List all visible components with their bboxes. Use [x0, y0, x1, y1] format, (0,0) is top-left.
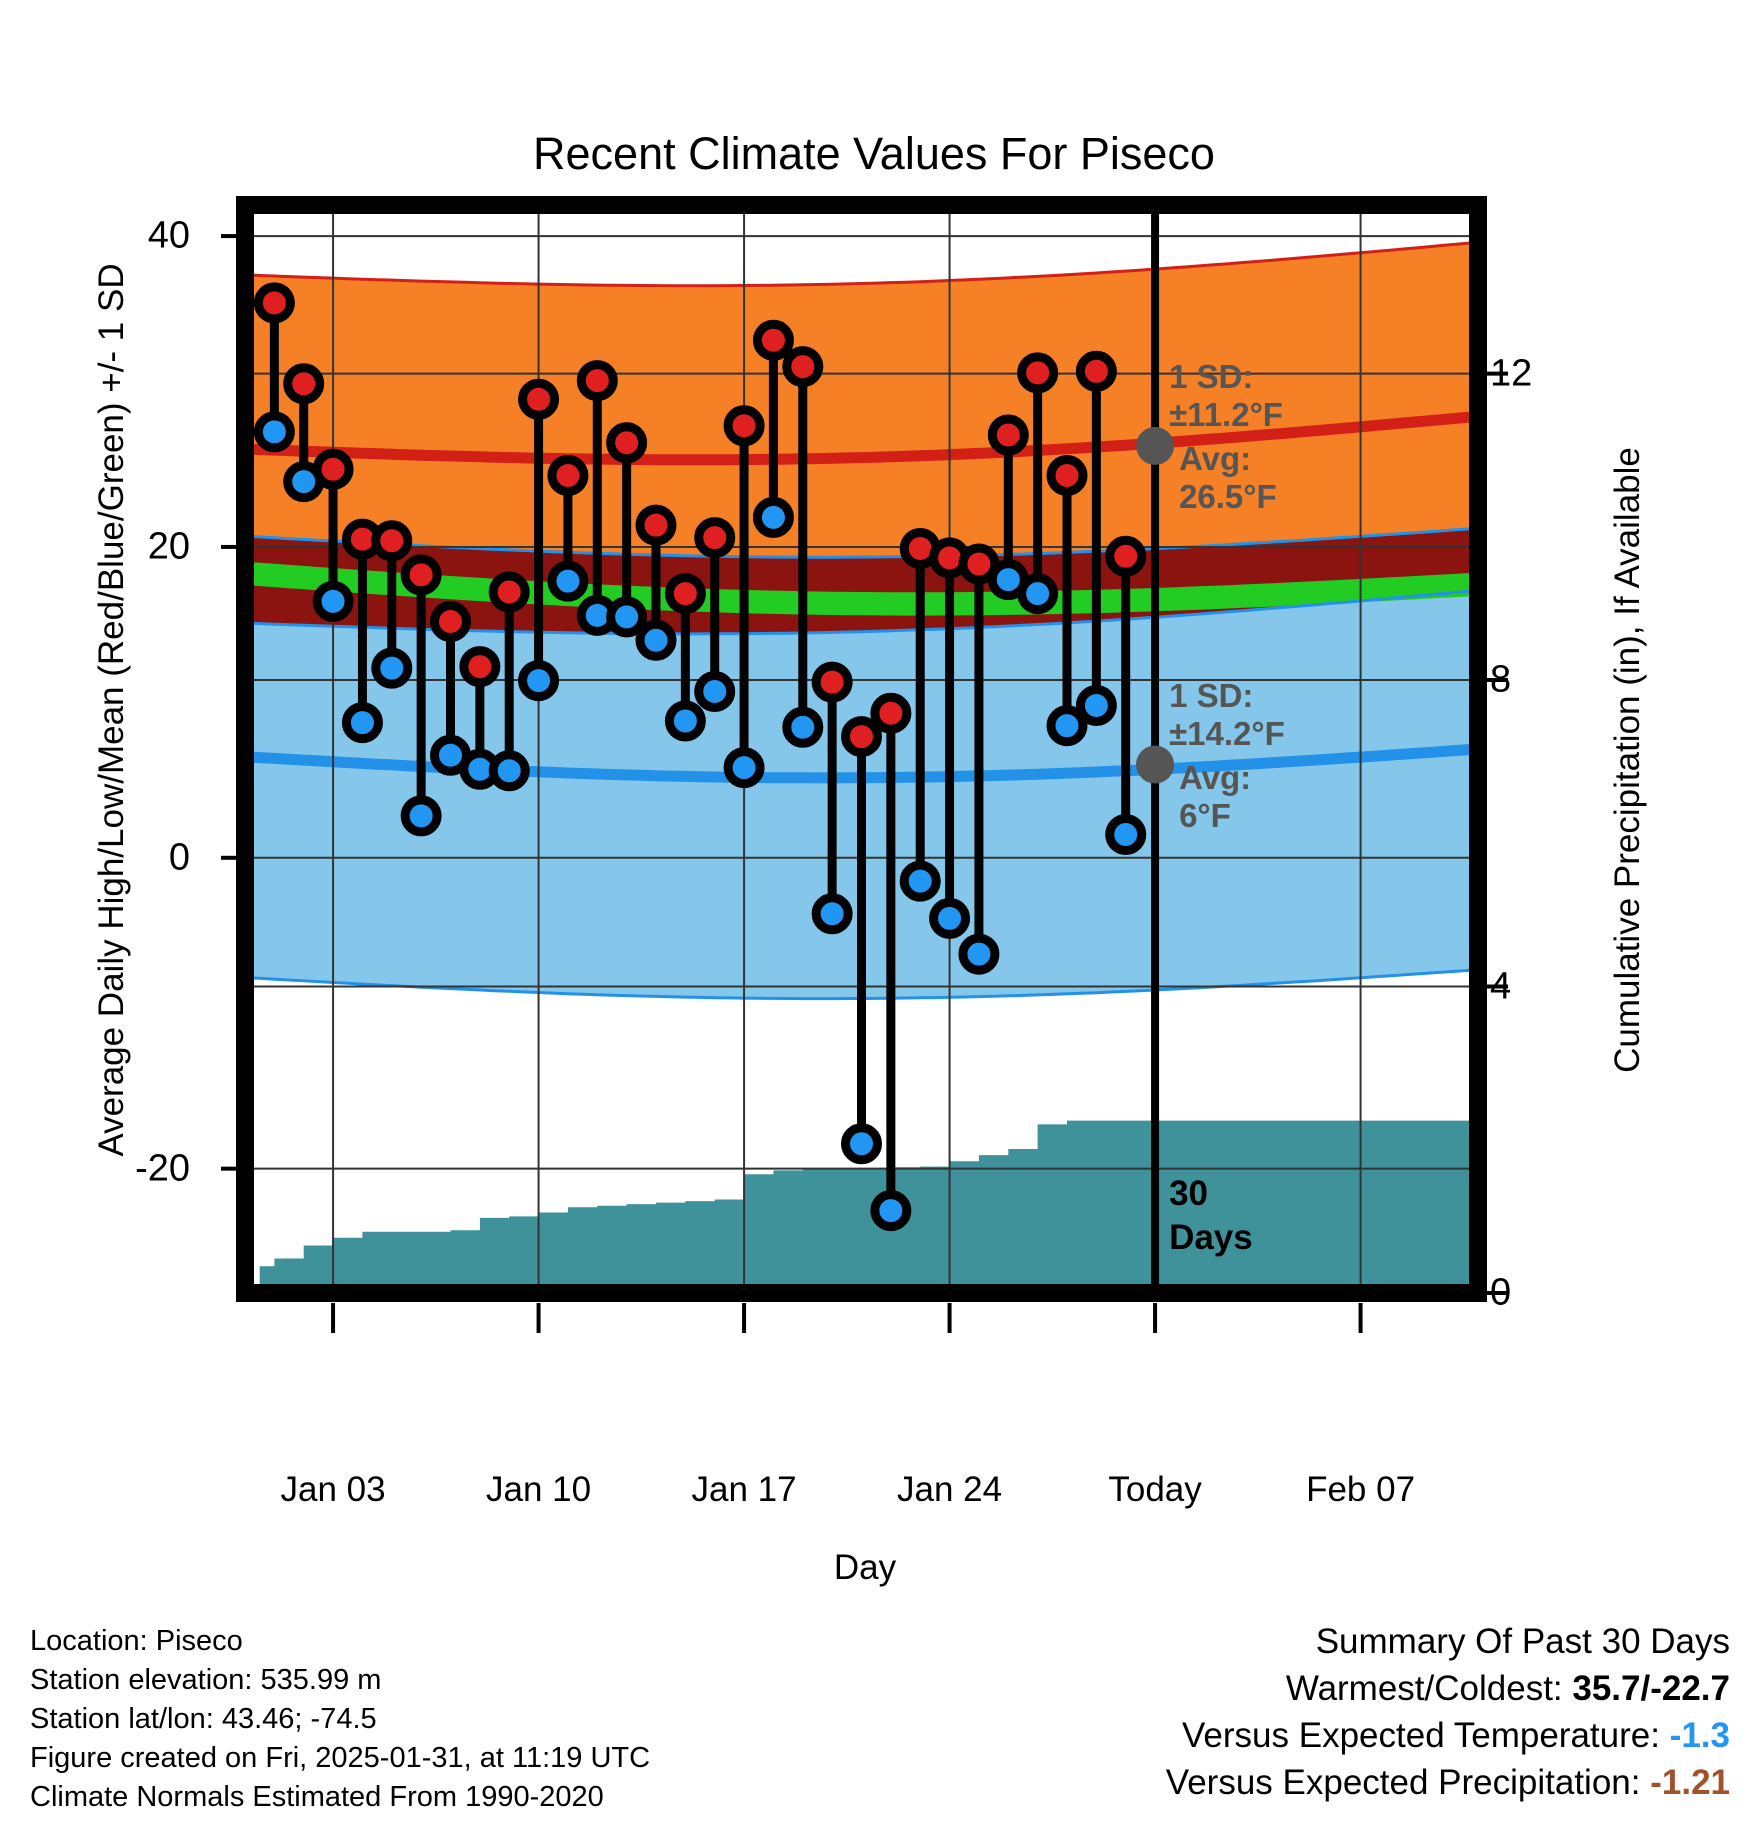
footer-metadata: Location: PisecoStation elevation: 535.9… — [30, 1622, 650, 1817]
summary-vs-precipitation: Versus Expected Precipitation: -1.21 — [1166, 1759, 1730, 1806]
marker-daily-low — [846, 1128, 878, 1160]
marker-daily-high — [699, 522, 731, 554]
marker-daily-high — [493, 576, 525, 608]
marker-daily-low — [904, 865, 936, 897]
marker-daily-low — [816, 898, 848, 930]
warmest-coldest-value: 35.7/-22.7 — [1572, 1669, 1730, 1708]
marker-daily-low — [934, 902, 966, 934]
marker-daily-low — [552, 565, 584, 597]
marker-daily-high — [258, 287, 290, 319]
warmest-coldest-label: Warmest/Coldest: — [1286, 1669, 1573, 1708]
marker-daily-high — [1022, 357, 1054, 389]
vs-precipitation-value: -1.21 — [1650, 1763, 1730, 1802]
marker-daily-low — [963, 938, 995, 970]
marker-daily-high — [846, 721, 878, 753]
marker-daily-low — [699, 675, 731, 707]
summary-warmest-coldest: Warmest/Coldest: 35.7/-22.7 — [1166, 1665, 1730, 1712]
vs-temperature-value: -1.3 — [1670, 1716, 1730, 1755]
marker-daily-high — [757, 324, 789, 356]
marker-daily-high — [669, 578, 701, 610]
marker-daily-high — [405, 559, 437, 591]
marker-daily-high — [1051, 459, 1083, 491]
marker-daily-low — [1080, 689, 1112, 721]
footer-line: Location: Piseco — [30, 1622, 650, 1661]
summary-vs-temperature: Versus Expected Temperature: -1.3 — [1166, 1712, 1730, 1759]
marker-daily-high — [464, 651, 496, 683]
summary-panel: Summary Of Past 30 Days Warmest/Coldest:… — [1166, 1618, 1730, 1806]
vs-precipitation-label: Versus Expected Precipitation: — [1166, 1763, 1650, 1802]
annotation-high-sd: 1 SD: ±11.2°F — [1169, 358, 1283, 434]
marker-daily-high — [552, 459, 584, 491]
marker-daily-low — [640, 624, 672, 656]
marker-daily-high — [611, 427, 643, 459]
annotation-days-count: 30 Days — [1169, 1172, 1253, 1260]
marker-daily-low — [376, 652, 408, 684]
annotation-low-avg: Avg: 6°F — [1179, 759, 1251, 835]
marker-daily-high — [435, 606, 467, 638]
marker-daily-high — [787, 351, 819, 383]
marker-daily-low — [258, 416, 290, 448]
marker-daily-high — [1110, 540, 1142, 572]
annotation-low-sd: 1 SD: ±14.2°F — [1169, 677, 1285, 753]
marker-daily-low — [1110, 818, 1142, 850]
marker-daily-low — [1022, 578, 1054, 610]
marker-daily-low — [787, 711, 819, 743]
marker-daily-low — [728, 752, 760, 784]
marker-daily-low — [611, 601, 643, 633]
marker-daily-high — [640, 509, 672, 541]
marker-daily-low — [875, 1195, 907, 1227]
footer-line: Figure created on Fri, 2025-01-31, at 11… — [30, 1739, 650, 1778]
vs-temperature-label: Versus Expected Temperature: — [1182, 1716, 1670, 1755]
marker-daily-low — [346, 707, 378, 739]
footer-line: Station lat/lon: 43.46; -74.5 — [30, 1700, 650, 1739]
marker-daily-low — [523, 665, 555, 697]
marker-daily-high — [816, 666, 848, 698]
annotation-high-avg: Avg: 26.5°F — [1179, 440, 1277, 516]
marker-daily-high — [1080, 355, 1112, 387]
marker-daily-high — [992, 419, 1024, 451]
climate-chart-page: Recent Climate Values For Piseco Average… — [0, 0, 1748, 1828]
marker-daily-high — [523, 383, 555, 415]
footer-line: Climate Normals Estimated From 1990-2020 — [30, 1778, 650, 1817]
marker-daily-high — [376, 525, 408, 557]
marker-daily-high — [728, 410, 760, 442]
marker-daily-low — [493, 755, 525, 787]
marker-daily-high — [875, 697, 907, 729]
marker-daily-high — [581, 365, 613, 397]
marker-daily-low — [405, 800, 437, 832]
marker-daily-low — [317, 585, 349, 617]
marker-daily-high — [317, 453, 349, 485]
marker-daily-high — [288, 368, 320, 400]
footer-line: Station elevation: 535.99 m — [30, 1661, 650, 1700]
marker-daily-low — [757, 501, 789, 533]
plot-canvas — [0, 0, 1748, 1828]
marker-daily-low — [669, 705, 701, 737]
summary-heading: Summary Of Past 30 Days — [1166, 1618, 1730, 1665]
